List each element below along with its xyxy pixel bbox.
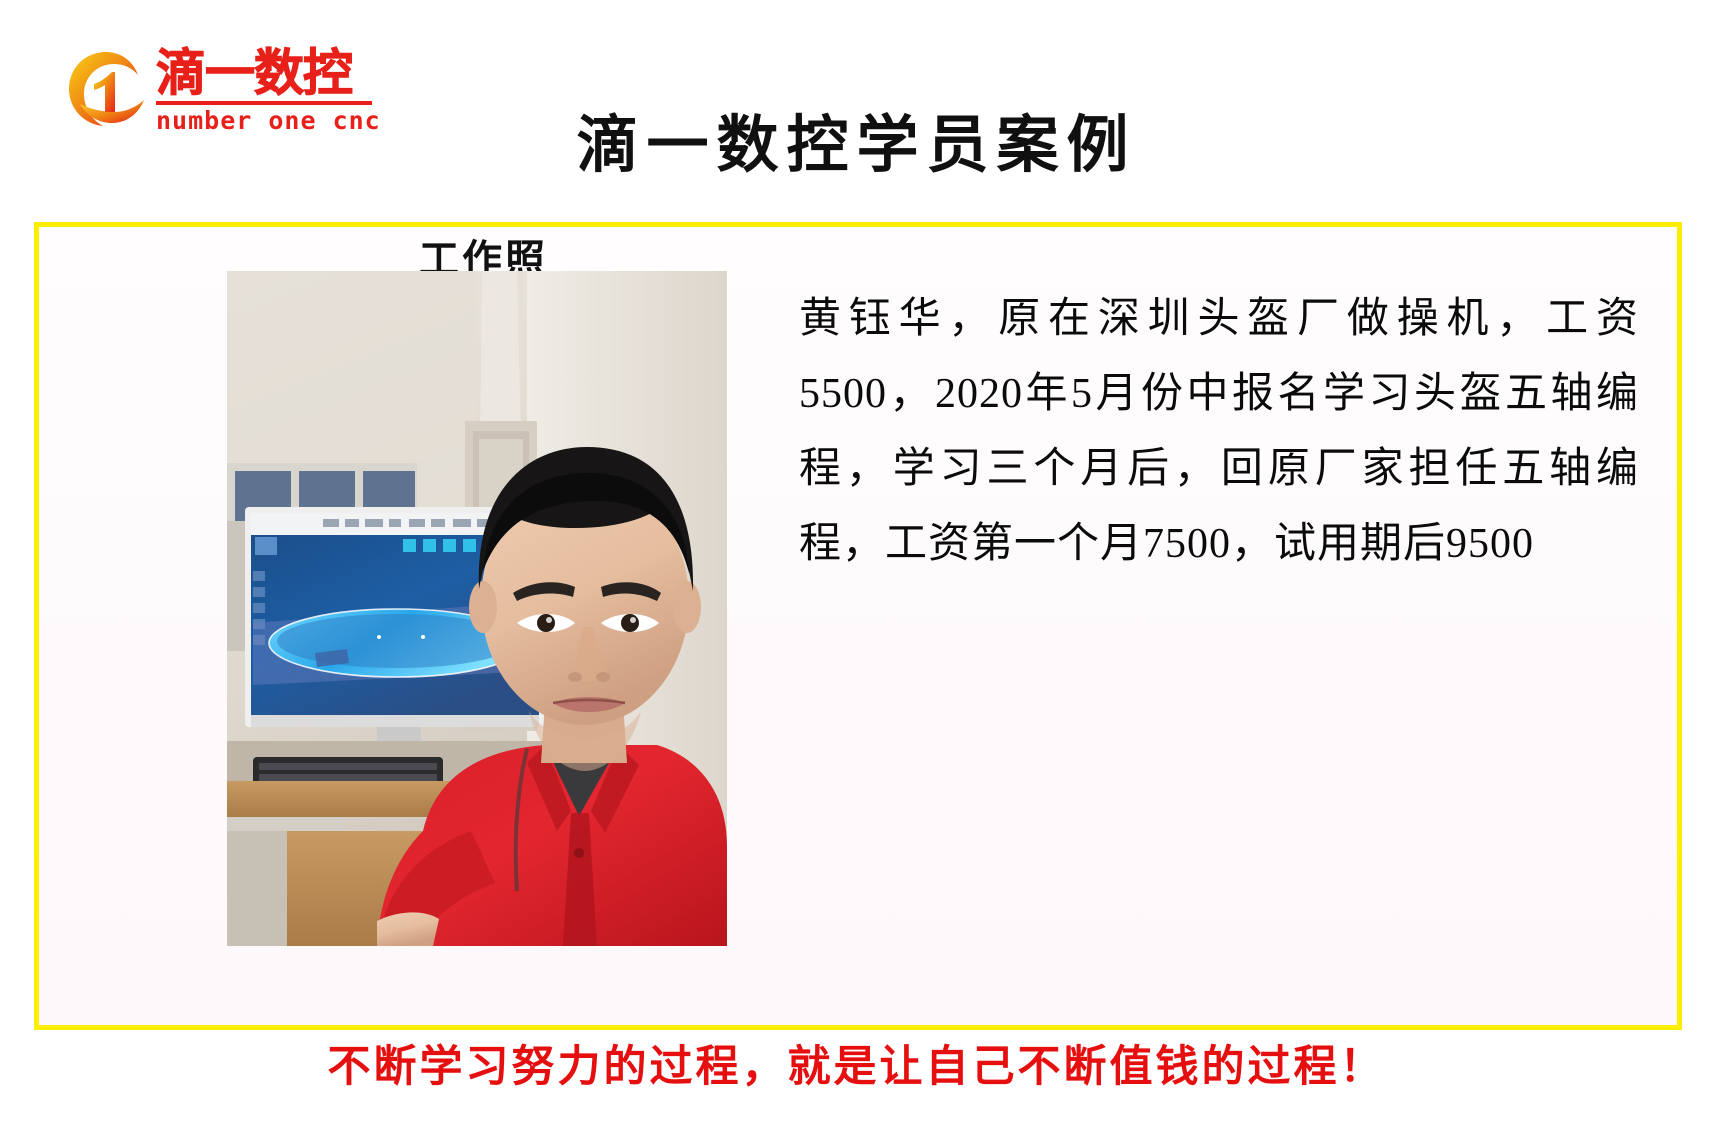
student-work-photo (227, 271, 727, 946)
motivational-caption: 不断学习努力的过程，就是让自己不断值钱的过程！ (0, 1040, 1713, 1096)
page-title: 滴一数控学员案例 (0, 108, 1713, 184)
brand-name-cn: 滴一数控 (156, 46, 381, 100)
student-story-text: 黄钰华，原在深圳头盔厂做操机，工资 5500，2020年5月份中报名学习头盔五轴… (799, 282, 1639, 582)
slide-root: 滴一数控 number one cnc 滴一数控学员案例 工作照 (0, 0, 1713, 1132)
content-frame: 工作照 (34, 222, 1682, 1030)
brand-divider (156, 101, 372, 105)
student-story-paragraph: 黄钰华，原在深圳头盔厂做操机，工资 5500，2020年5月份中报名学习头盔五轴… (799, 282, 1639, 582)
